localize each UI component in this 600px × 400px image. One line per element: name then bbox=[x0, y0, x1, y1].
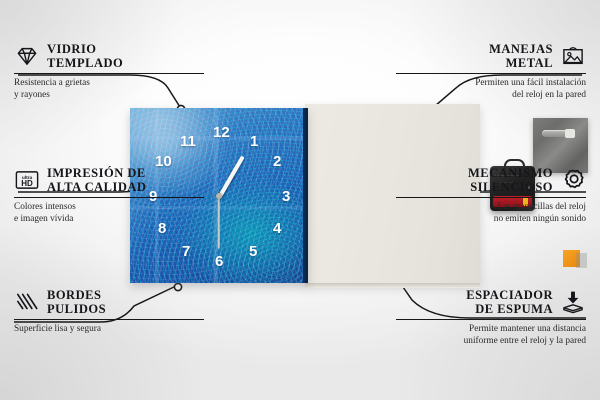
glass-edge bbox=[303, 108, 308, 283]
hands-center-pin bbox=[216, 193, 222, 199]
foam-spacer-arrow-icon bbox=[560, 289, 586, 315]
foam-spacer-pad bbox=[563, 250, 580, 267]
feature-header: BORDES PULIDOS bbox=[14, 288, 204, 316]
feature-manejas-metal: MANEJAS METAL Permiten una fácil instala… bbox=[396, 42, 586, 102]
ultra-hd-icon: ultra HD bbox=[14, 167, 40, 193]
feature-description: Colores intensos e imagen vívida bbox=[14, 201, 204, 225]
metal-hanger-plate bbox=[533, 118, 588, 173]
feature-description: Permite mantener una distancia uniforme … bbox=[396, 323, 586, 347]
feature-header: MECANISMO SILENCIOSO bbox=[396, 166, 586, 194]
hanger-keyhole-slot bbox=[542, 130, 575, 137]
title-rule bbox=[396, 197, 586, 198]
diamond-icon bbox=[14, 43, 40, 69]
clock-numeral: 2 bbox=[273, 154, 281, 169]
feature-header: ultra HD IMPRESIÓN DE ALTA CALIDAD bbox=[14, 166, 204, 194]
feature-description: Permiten una fácil instalación del reloj… bbox=[396, 77, 586, 101]
infographic-canvas: 12 1 2 3 4 5 6 7 8 9 10 11 bbox=[0, 0, 600, 400]
feature-mecanismo-silencioso: MECANISMO SILENCIOSO Las manecillas del … bbox=[396, 166, 586, 226]
feature-description: Las manecillas del reloj no emiten ningú… bbox=[396, 201, 586, 225]
feature-impresion-alta-calidad: ultra HD IMPRESIÓN DE ALTA CALIDAD Color… bbox=[14, 166, 204, 226]
title-rule bbox=[14, 73, 204, 74]
clock-numeral: 12 bbox=[213, 125, 230, 140]
feature-title: MECANISMO SILENCIOSO bbox=[468, 166, 553, 194]
svg-text:HD: HD bbox=[21, 179, 33, 188]
clock-numeral: 6 bbox=[215, 254, 223, 269]
feature-bordes-pulidos: BORDES PULIDOS Superficie lisa y segura bbox=[14, 288, 204, 335]
feature-header: MANEJAS METAL bbox=[396, 42, 586, 70]
feature-description: Resistencia a grietas y rayones bbox=[14, 77, 204, 101]
feature-header: VIDRIO TEMPLADO bbox=[14, 42, 204, 70]
title-rule bbox=[14, 319, 204, 320]
feature-title: ESPACIADOR DE ESPUMA bbox=[466, 288, 553, 316]
clock-numeral: 11 bbox=[180, 134, 196, 149]
feature-title: VIDRIO TEMPLADO bbox=[47, 42, 123, 70]
feature-espaciador-espuma: ESPACIADOR DE ESPUMA Permite mantener un… bbox=[396, 288, 586, 348]
feature-title: BORDES PULIDOS bbox=[47, 288, 106, 316]
feature-header: ESPACIADOR DE ESPUMA bbox=[396, 288, 586, 316]
feature-description: Superficie lisa y segura bbox=[14, 323, 204, 335]
clock-numeral: 7 bbox=[182, 244, 190, 259]
gear-icon bbox=[560, 167, 586, 193]
picture-frame-hanger-icon bbox=[560, 43, 586, 69]
clock-numeral: 3 bbox=[282, 189, 290, 204]
second-hand bbox=[218, 196, 220, 248]
feature-title: MANEJAS METAL bbox=[489, 42, 553, 70]
clock-numeral: 5 bbox=[249, 244, 257, 259]
clock-numeral: 1 bbox=[250, 134, 258, 149]
feature-title: IMPRESIÓN DE ALTA CALIDAD bbox=[47, 166, 146, 194]
feature-vidrio-templado: VIDRIO TEMPLADO Resistencia a grietas y … bbox=[14, 42, 204, 102]
clock-numeral: 4 bbox=[273, 221, 281, 236]
title-rule bbox=[396, 73, 586, 74]
polished-edges-icon bbox=[14, 289, 40, 315]
title-rule bbox=[14, 197, 204, 198]
title-rule bbox=[396, 319, 586, 320]
